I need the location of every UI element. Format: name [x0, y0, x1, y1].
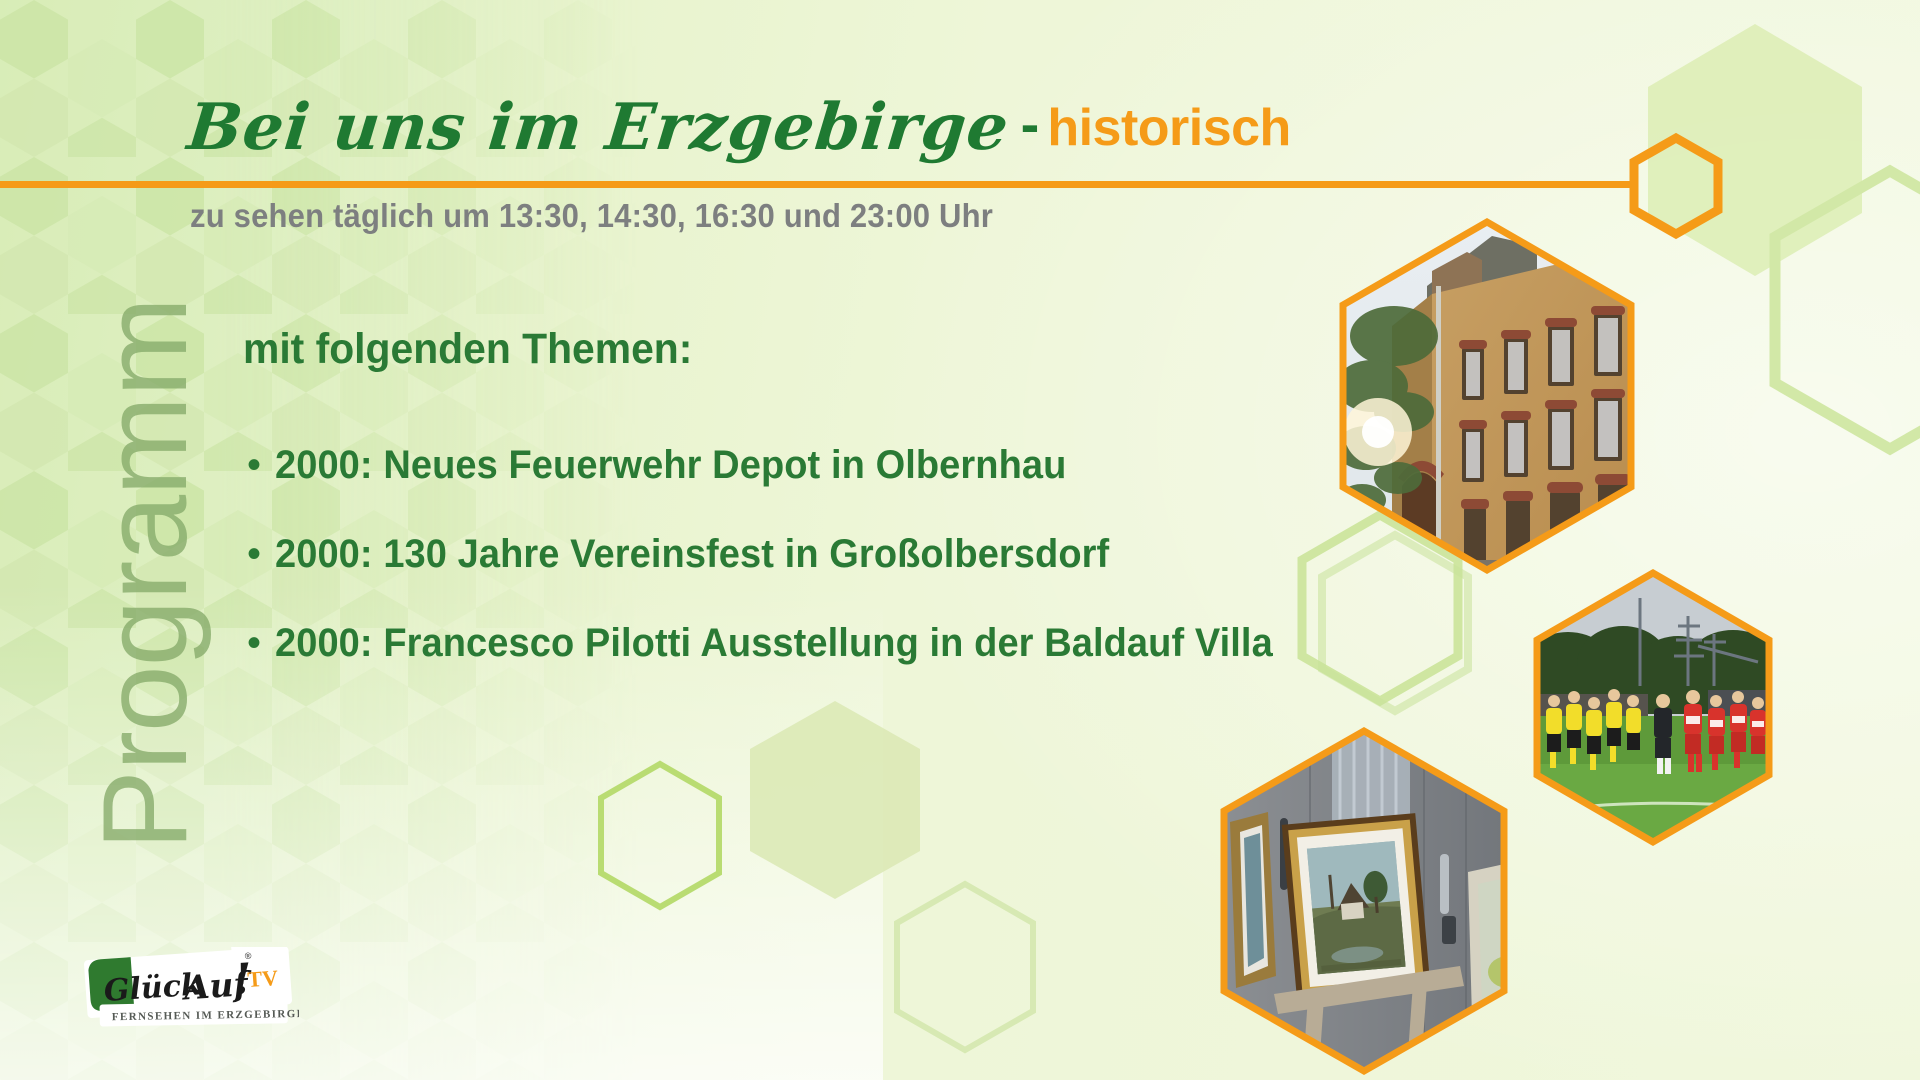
- page-title-script: Bei uns im Erzgebirge: [185, 96, 1012, 160]
- photo-football: [1528, 568, 1778, 858]
- bullet-icon: •: [247, 623, 275, 663]
- topic-list: • 2000: Neues Feuerwehr Depot in Olbernh…: [247, 443, 1325, 710]
- list-item-label: 2000: Francesco Pilotti Ausstellung in d…: [275, 621, 1273, 666]
- page-title-dash: -: [1021, 96, 1040, 152]
- bullet-icon: •: [247, 534, 275, 574]
- sidebar-vertical-label: Programm: [76, 224, 214, 924]
- list-item-label: 2000: Neues Feuerwehr Depot in Olbernhau: [275, 443, 1066, 488]
- broadcast-times: zu sehen täglich um 13:30, 14:30, 16:30 …: [190, 197, 993, 235]
- photo-artwork: [1214, 726, 1514, 1076]
- page-title: Bei uns im Erzgebirge-historisch: [188, 96, 1291, 160]
- slide-canvas: Bei uns im Erzgebirge-historisch zu sehe…: [0, 0, 1920, 1080]
- themes-intro: mit folgenden Themen:: [243, 325, 692, 374]
- list-item: • 2000: Francesco Pilotti Ausstellung in…: [247, 621, 1325, 666]
- list-item: • 2000: Neues Feuerwehr Depot in Olbernh…: [247, 443, 1325, 488]
- photo-building: [1332, 216, 1642, 576]
- hexagon-filled-icon: [745, 698, 925, 903]
- svg-text:®: ®: [244, 951, 252, 961]
- list-item: • 2000: 130 Jahre Vereinsfest in Großolb…: [247, 532, 1325, 577]
- list-item-label: 2000: 130 Jahre Vereinsfest in Großolber…: [275, 532, 1109, 577]
- hexagon-outline-icon: [1765, 165, 1920, 455]
- page-title-highlight: historisch: [1047, 102, 1291, 154]
- hexagon-outline-icon: [890, 880, 1040, 1055]
- hexagon-outline-icon: [595, 760, 725, 912]
- header-divider-rule: [0, 181, 1637, 188]
- bullet-icon: •: [247, 445, 275, 485]
- svg-text:TV: TV: [247, 965, 279, 992]
- logo-glueckauf-tv[interactable]: Glück Auf ! ® TV FERNSEHEN IM ERZGEBIRGE: [84, 947, 299, 1032]
